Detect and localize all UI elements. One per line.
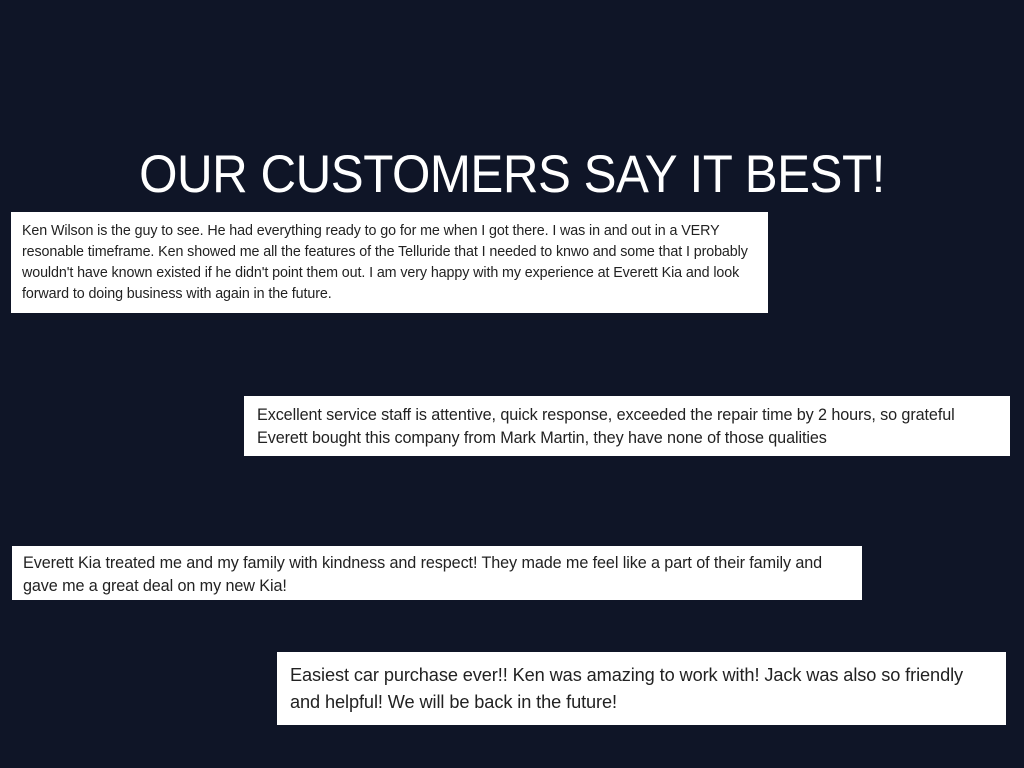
testimonial-card-1: Ken Wilson is the guy to see. He had eve… (11, 212, 768, 313)
testimonial-text: Everett Kia treated me and my family wit… (23, 552, 852, 598)
page-title: OUR CUSTOMERS SAY IT BEST! (36, 144, 988, 206)
testimonial-card-4: Easiest car purchase ever!! Ken was amaz… (277, 652, 1006, 725)
testimonial-text: Excellent service staff is attentive, qu… (257, 404, 998, 450)
testimonial-text: Ken Wilson is the guy to see. He had eve… (22, 221, 757, 305)
testimonial-card-3: Everett Kia treated me and my family wit… (12, 546, 862, 600)
testimonial-text: Easiest car purchase ever!! Ken was amaz… (290, 662, 994, 716)
testimonial-card-2: Excellent service staff is attentive, qu… (244, 396, 1010, 456)
presentation-slide: OUR CUSTOMERS SAY IT BEST! Ken Wilson is… (0, 0, 1024, 768)
